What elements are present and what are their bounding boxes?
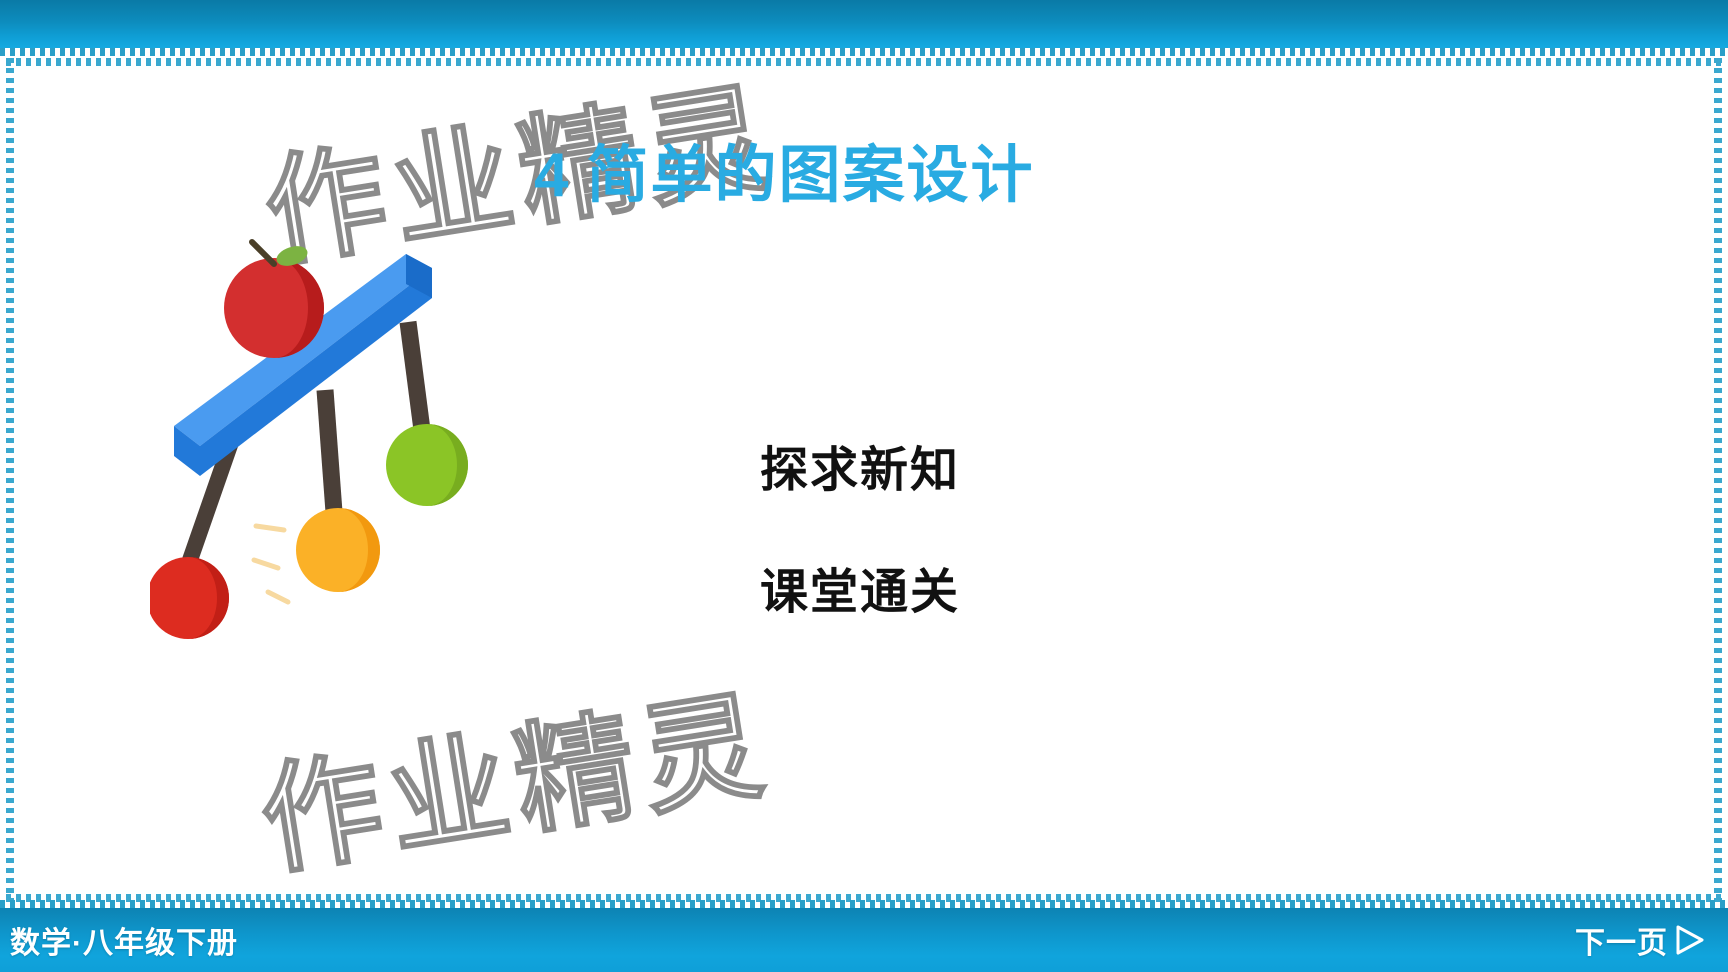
next-page-label: 下一页 (1575, 918, 1668, 962)
balance-mobile-illustration (150, 230, 550, 650)
menu-item-practice[interactable]: 课堂通关 (760, 552, 960, 622)
footer-subject-label: 数学·八年级下册 (10, 918, 238, 962)
slide-root: 作业精灵 作业精灵 (0, 0, 1728, 972)
balance-mobile-svg (150, 230, 550, 650)
footer-bar: 数学·八年级下册 下一页 (0, 908, 1728, 972)
next-page-button[interactable]: 下一页 (1575, 918, 1706, 962)
page-title-text: 简单的图案设计 (586, 141, 1034, 210)
mobile-ball-green (386, 424, 468, 506)
menu-item-explore[interactable]: 探求新知 (760, 430, 960, 500)
section-menu-list: 探求新知 课堂通关 (760, 430, 960, 622)
mobile-ball-red (150, 557, 229, 639)
page-title: 4简单的图案设计 (534, 124, 1035, 214)
triangle-right-icon (1672, 922, 1706, 958)
frame-edge-top (6, 58, 1722, 66)
motion-spark-lines (254, 526, 288, 602)
top-banner-bar (0, 0, 1728, 48)
page-title-number: 4 (534, 141, 570, 210)
top-dotted-divider (0, 48, 1728, 56)
frame-edge-right (1714, 58, 1722, 902)
mobile-ball-orange (296, 508, 380, 592)
apple (224, 242, 324, 358)
frame-edge-left (6, 58, 14, 902)
bottom-dotted-divider (0, 900, 1728, 908)
